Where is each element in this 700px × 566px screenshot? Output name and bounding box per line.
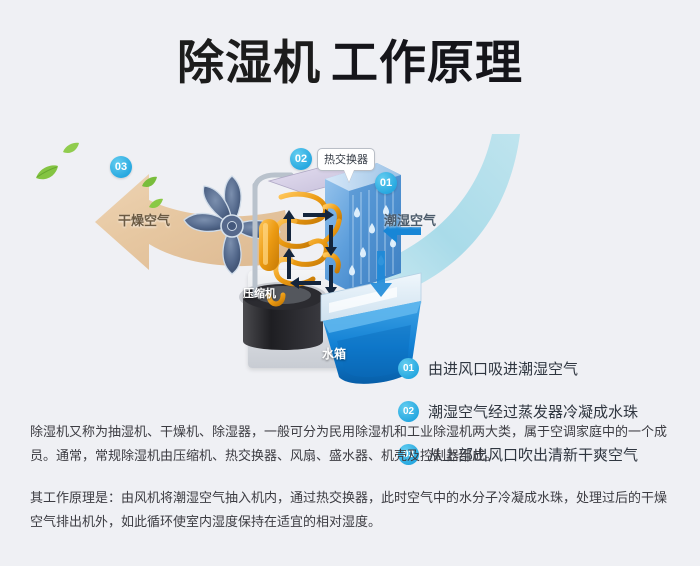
diagram-badge-03: 03 [110, 156, 132, 178]
diagram-badge-01: 01 [375, 172, 397, 194]
list-item: 02 潮湿空气经过蒸发器冷凝成水珠 [398, 401, 688, 422]
step-badge-02: 02 [398, 401, 419, 422]
leaf-icon [148, 198, 164, 210]
diagram-illustration: 干燥空气 潮湿空气 压缩机 水箱 热交换器 03 02 01 01 由进风口吸进… [0, 110, 700, 400]
label-moist-air: 潮湿空气 [384, 210, 436, 229]
page-root: 除湿机工作原理 [0, 0, 700, 566]
step-text-01: 由进风口吸进潮湿空气 [428, 358, 578, 379]
body-paragraph-1: 除湿机又称为抽湿机、干燥机、除湿器，一般可分为民用除湿机和工业除湿机两大类，属于… [30, 420, 678, 468]
leaf-icon [141, 176, 158, 189]
page-title: 除湿机工作原理 [0, 34, 700, 92]
list-item: 01 由进风口吸进潮湿空气 [398, 358, 688, 379]
page-title-part-a: 除湿机 [177, 36, 321, 89]
label-compressor: 压缩机 [243, 285, 276, 301]
callout-heat-exchanger: 热交换器 [317, 148, 375, 171]
label-water-tank: 水箱 [322, 345, 346, 362]
page-title-part-b: 工作原理 [331, 36, 523, 89]
label-dry-air: 干燥空气 [118, 210, 170, 229]
step-text-02: 潮湿空气经过蒸发器冷凝成水珠 [428, 401, 638, 422]
leaf-icon [62, 142, 80, 155]
body-paragraph-2: 其工作原理是：由风机将潮湿空气抽入机内，通过热交换器，此时空气中的水分子冷凝成水… [30, 486, 678, 534]
body-copy: 除湿机又称为抽湿机、干燥机、除湿器，一般可分为民用除湿机和工业除湿机两大类，属于… [30, 420, 678, 534]
leaf-icon [34, 164, 60, 182]
step-badge-01: 01 [398, 358, 419, 379]
diagram-badge-02: 02 [290, 148, 312, 170]
